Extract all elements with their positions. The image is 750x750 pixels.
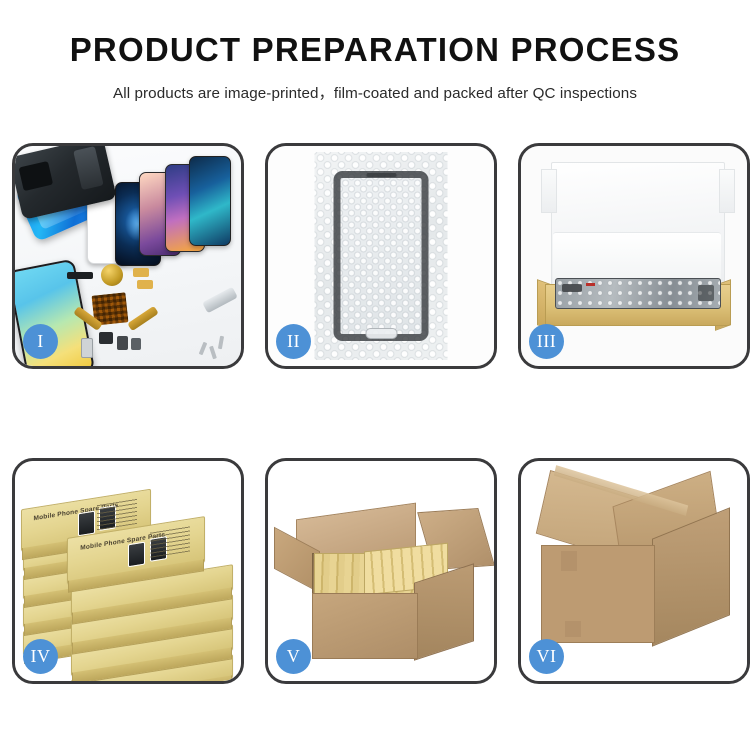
phone-display-teal-icon xyxy=(189,156,231,246)
step-badge-2: II xyxy=(276,324,311,359)
speaker-module-icon xyxy=(101,264,123,286)
step-badge-3: III xyxy=(529,324,564,359)
header: PRODUCT PREPARATION PROCESS All products… xyxy=(0,0,750,103)
page-title: PRODUCT PREPARATION PROCESS xyxy=(0,33,750,66)
camera-module-icon xyxy=(99,332,113,344)
box-artwork-phone-icon xyxy=(128,542,145,568)
carton-flap-seam xyxy=(565,621,581,637)
page-subtitle: All products are image-printed，film-coat… xyxy=(0,81,750,103)
step-panel-5: V xyxy=(265,458,497,684)
home-button-icon xyxy=(365,328,397,339)
step-panel-2: II xyxy=(265,143,497,369)
step-panel-1: I xyxy=(12,143,244,369)
step-panel-3: III xyxy=(518,143,750,369)
earpiece-slot-icon xyxy=(366,173,396,177)
box-spec-lines xyxy=(150,526,190,558)
flex-cable-tab-icon xyxy=(133,268,149,277)
carton-front-panel xyxy=(541,545,655,643)
box-artwork-phone-icon xyxy=(78,511,95,537)
screw-icon xyxy=(218,336,224,349)
step-panel-4: Mobile Phone Spare Parts Mobile Phone Sp… xyxy=(12,458,244,684)
box-spec-lines xyxy=(97,497,137,529)
step-badge-5: V xyxy=(276,639,311,674)
screen-inside-box xyxy=(555,278,721,309)
flex-cable-tab-2-icon xyxy=(137,280,153,289)
product-preparation-infographic: PRODUCT PREPARATION PROCESS All products… xyxy=(0,0,750,750)
screw-icon xyxy=(199,342,208,356)
connector-part-icon xyxy=(131,338,141,350)
wrapped-phone-screen xyxy=(334,171,429,341)
carton-flap-seam xyxy=(561,551,577,571)
process-steps-grid: I II xyxy=(12,143,738,684)
carton-front-panel xyxy=(312,593,418,659)
flex-cable-right-icon xyxy=(127,306,159,331)
step-badge-6: VI xyxy=(529,639,564,674)
step-panel-6: VI xyxy=(518,458,750,684)
repair-tweezers-icon xyxy=(202,287,238,314)
earpiece-mesh-icon xyxy=(67,272,93,279)
vibrator-module-icon xyxy=(117,336,128,350)
red-marking-icon xyxy=(586,283,595,286)
sim-tray-icon xyxy=(81,338,93,358)
screw-icon xyxy=(209,346,217,360)
step-badge-1: I xyxy=(23,324,58,359)
step-badge-4: IV xyxy=(23,639,58,674)
